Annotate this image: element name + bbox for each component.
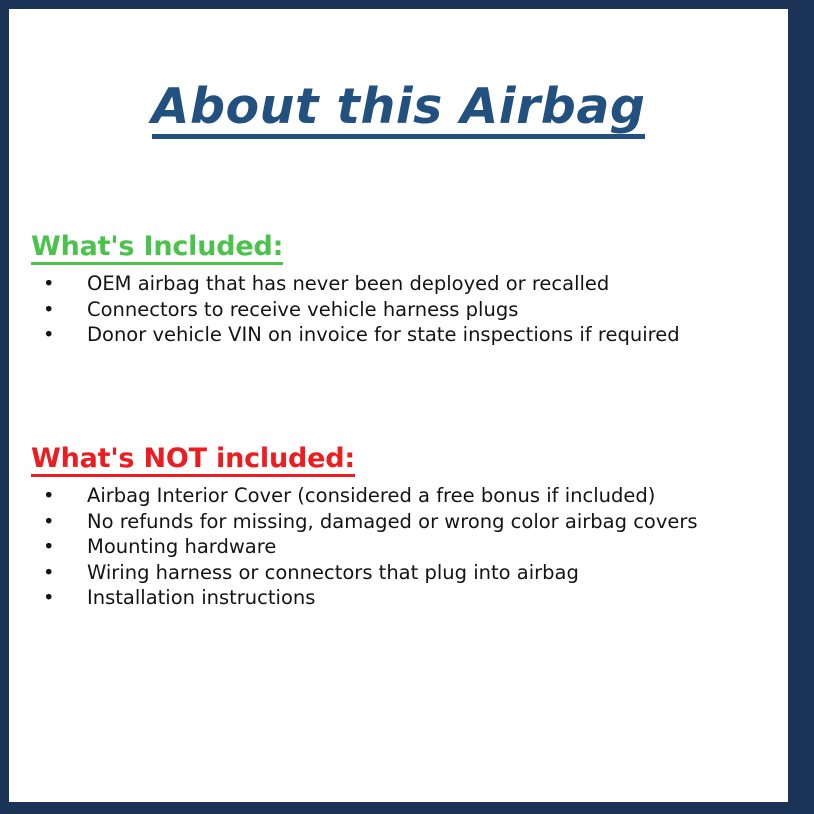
list-item-text: Airbag Interior Cover (considered a free…	[87, 484, 655, 507]
list-item: • Wiring harness or connectors that plug…	[31, 560, 771, 586]
content-area: About this Airbag What's Included: • OEM…	[9, 9, 788, 802]
list-item: • Mounting hardware	[31, 534, 771, 560]
list-item-text: Donor vehicle VIN on invoice for state i…	[87, 323, 680, 346]
about-this-airbag-page: About this Airbag What's Included: • OEM…	[0, 0, 814, 814]
list-item: • Donor vehicle VIN on invoice for state…	[31, 322, 771, 348]
included-list: • OEM airbag that has never been deploye…	[31, 271, 771, 348]
bullet-icon: •	[43, 509, 55, 535]
border-left	[0, 0, 9, 814]
list-item: • No refunds for missing, damaged or wro…	[31, 509, 771, 535]
list-item-text: Installation instructions	[87, 586, 315, 609]
list-item: • Connectors to receive vehicle harness …	[31, 297, 771, 323]
section-included: What's Included: • OEM airbag that has n…	[31, 231, 771, 348]
list-item-text: OEM airbag that has never been deployed …	[87, 272, 609, 295]
border-bottom	[0, 802, 814, 814]
list-item: • OEM airbag that has never been deploye…	[31, 271, 771, 297]
list-item: • Airbag Interior Cover (considered a fr…	[31, 483, 771, 509]
not-included-list: • Airbag Interior Cover (considered a fr…	[31, 483, 771, 611]
title-container: About this Airbag	[9, 81, 788, 139]
border-right	[788, 0, 814, 814]
bullet-icon: •	[43, 560, 55, 586]
bullet-icon: •	[43, 483, 55, 509]
page-title: About this Airbag	[152, 81, 646, 139]
bullet-icon: •	[43, 534, 55, 560]
list-item-text: No refunds for missing, damaged or wrong…	[87, 510, 698, 533]
list-item-text: Connectors to receive vehicle harness pl…	[87, 298, 518, 321]
border-top	[0, 0, 814, 9]
bullet-icon: •	[43, 271, 55, 297]
bullet-icon: •	[43, 322, 55, 348]
list-item-text: Mounting hardware	[87, 535, 276, 558]
section-not-included: What's NOT included: • Airbag Interior C…	[31, 443, 771, 611]
list-item: • Installation instructions	[31, 585, 771, 611]
section-heading-not-included: What's NOT included:	[31, 443, 355, 477]
bullet-icon: •	[43, 297, 55, 323]
bullet-icon: •	[43, 585, 55, 611]
list-item-text: Wiring harness or connectors that plug i…	[87, 561, 579, 584]
section-heading-included: What's Included:	[31, 231, 283, 265]
